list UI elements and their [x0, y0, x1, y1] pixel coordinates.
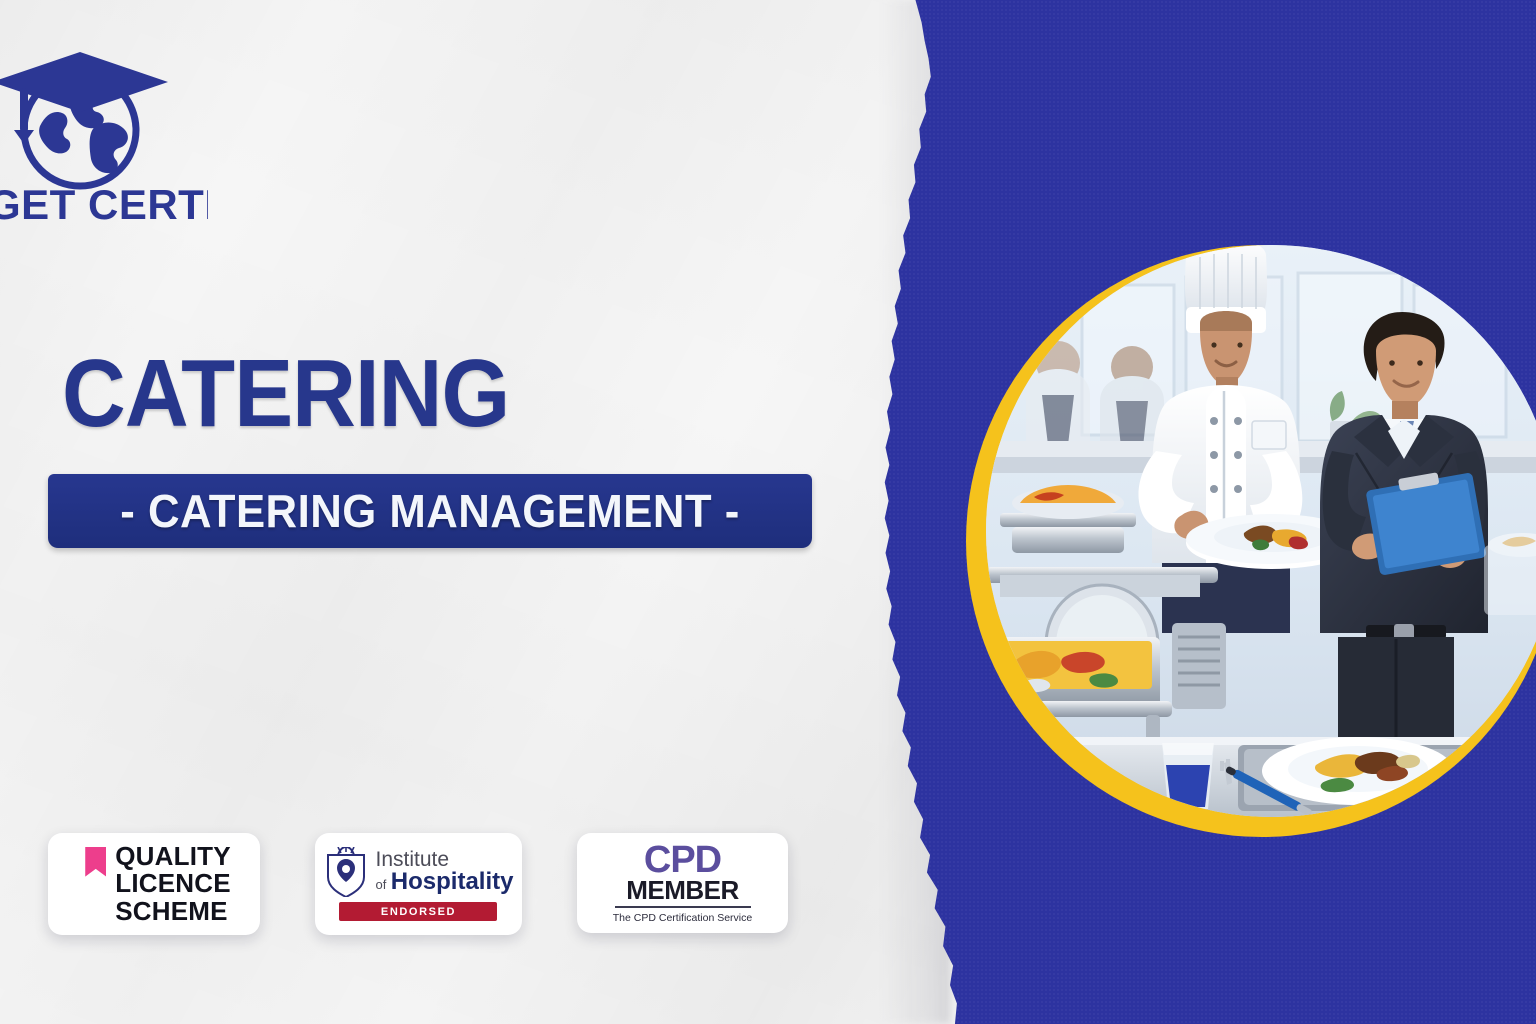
- ioh-endorsed-banner: ENDORSED: [339, 902, 497, 921]
- brand-logo[interactable]: GET CERTIFY: [0, 34, 208, 226]
- qls-line-1: QUALITY: [115, 841, 231, 871]
- cpd-divider: [615, 906, 751, 908]
- chef-and-manager-illustration: [986, 245, 1536, 817]
- badge-quality-licence-scheme[interactable]: QUALITY LICENCE SCHEME: [48, 833, 260, 935]
- cpd-monogram-icon: CPD: [644, 841, 721, 879]
- pink-ribbon-bookmark-icon: [85, 847, 106, 877]
- graduation-cap-globe-icon: GET CERTIFY: [0, 34, 208, 226]
- ioh-line-of: of: [376, 877, 387, 892]
- subtitle-bar: - CATERING MANAGEMENT -: [48, 474, 812, 548]
- qls-line-2: LICENCE: [115, 868, 231, 898]
- hero-image: [986, 245, 1536, 817]
- ioh-line-hospitality: Hospitality: [391, 868, 514, 895]
- cpd-member-label: MEMBER: [626, 877, 739, 903]
- brand-logo-text: GET CERTIFY: [0, 181, 208, 226]
- subtitle-text: - CATERING MANAGEMENT -: [120, 484, 739, 538]
- cpd-service-text: The CPD Certification Service: [613, 912, 752, 925]
- badge-cpd-member[interactable]: CPD MEMBER The CPD Certification Service: [577, 833, 788, 933]
- heraldic-crest-icon: [324, 847, 368, 897]
- page-title: CATERING: [62, 348, 509, 440]
- accreditation-badges: QUALITY LICENCE SCHEME Inst: [48, 833, 788, 935]
- course-banner: GET CERTIFY CATERING - CATERING MANAGEME…: [0, 0, 1536, 1024]
- qls-line-3: SCHEME: [115, 896, 227, 926]
- badge-institute-of-hospitality[interactable]: Institute of Hospitality ENDORSED: [315, 833, 522, 935]
